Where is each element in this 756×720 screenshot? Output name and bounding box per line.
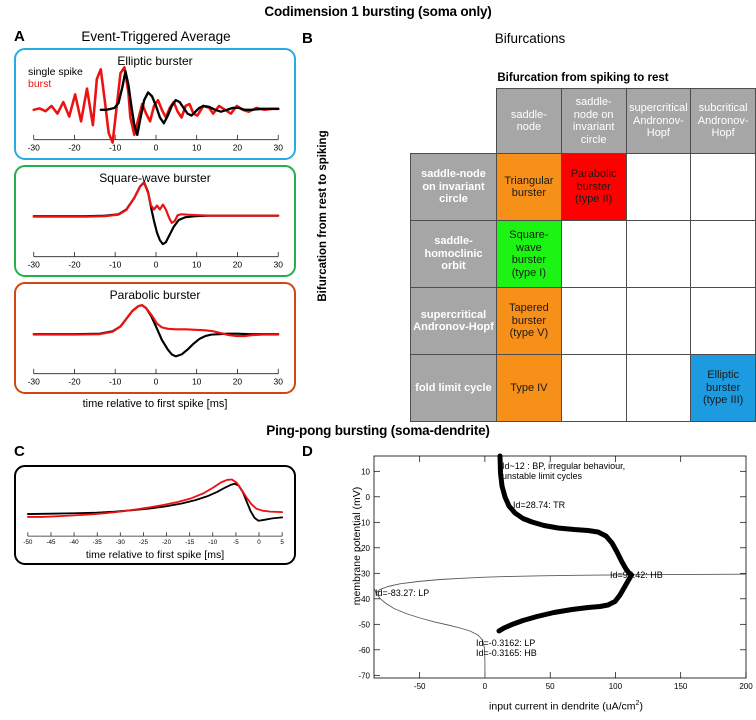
title-pingpong-bursting: Ping-pong bursting (soma-dendrite) (128, 423, 628, 438)
table-cell-empty (561, 221, 626, 288)
table-row-group-header: Bifurcation from rest to spiking (317, 121, 329, 311)
svg-text:-50: -50 (414, 682, 426, 691)
bifurcation-table-wrap: Bifurcation from spiking to rest Bifurca… (300, 60, 756, 390)
table-cell-empty (626, 288, 691, 355)
svg-text:-60: -60 (358, 646, 370, 655)
table-cell-empty (691, 154, 756, 221)
svg-text:-10: -10 (358, 518, 370, 527)
annotation-lp-03162: Id=-0.3162: LP (476, 638, 535, 649)
svg-text:10: 10 (192, 142, 202, 152)
eta-ticklabels-parabolic: -30 -20 -10 0 10 20 30 (16, 284, 294, 392)
svg-text:30: 30 (274, 142, 284, 152)
table-row-header-snic: saddle-node on invariant circle (411, 154, 497, 221)
svg-text:-20: -20 (68, 142, 81, 152)
eta-ticklabels-squarewave: -30 -20 -10 0 10 20 30 (16, 167, 294, 275)
table-cell-empty (561, 355, 626, 422)
table-row-header-supercritical-ah: supercritical Andronov-Hopf (411, 288, 497, 355)
annotation-hb-97: Id=97.42: HB (610, 570, 663, 581)
table-cell-elliptic-burster: Elliptic burster (type III) (691, 355, 756, 422)
table-col-header-snic: saddle-node on invariant circle (561, 89, 626, 154)
svg-text:-50: -50 (358, 620, 370, 629)
svg-text:-30: -30 (28, 142, 41, 152)
eta-ticklabels-elliptic: -30 -20 -10 0 10 20 30 (16, 50, 294, 158)
svg-text:100: 100 (609, 682, 623, 691)
eta-plot-pingpong: -50 -45 -40 -35 -30 -25 -20 -15 -10 -5 0… (14, 465, 296, 565)
svg-text:-30: -30 (28, 376, 41, 386)
panel-letter-d: D (302, 443, 313, 460)
svg-text:-70: -70 (358, 671, 370, 680)
svg-text:30: 30 (274, 376, 284, 386)
svg-text:0: 0 (366, 493, 371, 502)
bifurcation-diagram-svg: 10 0 -10 -20 -30 -40 -50 -60 -70 (336, 448, 756, 698)
svg-text:0: 0 (154, 376, 159, 386)
svg-text:-30: -30 (116, 539, 126, 546)
svg-text:30: 30 (274, 259, 284, 269)
svg-text:10: 10 (192, 259, 202, 269)
table-row-header-saddle-homoclinic: saddle-homoclinic orbit (411, 221, 497, 288)
svg-text:5: 5 (280, 539, 284, 546)
figure-canvas: Codimension 1 bursting (soma only) Ping-… (0, 0, 756, 720)
svg-text:0: 0 (154, 259, 159, 269)
eta-plot-squarewave: Square-wave burster -30 -20 -10 (14, 165, 296, 277)
annotation-bp-line1: Id~12 : BP, irregular behaviour, (502, 461, 625, 472)
svg-text:-40: -40 (70, 539, 80, 546)
table-row: saddle-homoclinic orbit Square-wave burs… (411, 221, 756, 288)
table-cell-triangular-burster: Triangular burster (497, 154, 562, 221)
table-row: fold limit cycle Type IV Elliptic burste… (411, 355, 756, 422)
table-row: saddle-node on invariant circle Triangul… (411, 154, 756, 221)
panel-letter-a: A (14, 28, 25, 45)
table-cell-type-iv: Type IV (497, 355, 562, 422)
svg-text:-30: -30 (28, 259, 41, 269)
svg-text:20: 20 (233, 142, 243, 152)
table-cell-empty (626, 154, 691, 221)
svg-text:20: 20 (233, 259, 243, 269)
eta-plot-elliptic: Elliptic burster single spike burst -30 (14, 48, 296, 160)
table-row: supercritical Andronov-Hopf Tapered burs… (411, 288, 756, 355)
svg-text:-15: -15 (185, 539, 195, 546)
svg-text:-10: -10 (109, 142, 122, 152)
table-cell-tapered-burster: Tapered burster (type V) (497, 288, 562, 355)
table-corner-cell (411, 89, 497, 154)
table-cell-square-wave-burster: Square-wave burster (type I) (497, 221, 562, 288)
svg-text:-45: -45 (46, 539, 56, 546)
panel-letter-b: B (302, 30, 313, 47)
svg-text:-20: -20 (68, 376, 81, 386)
table-cell-empty (626, 221, 691, 288)
svg-text:-30: -30 (358, 569, 370, 578)
panel-b-heading: Bifurcations (380, 31, 680, 46)
panel-letter-c: C (14, 443, 25, 460)
eta-plot-parabolic: Parabolic burster -30 -20 -10 0 (14, 282, 296, 394)
annotation-tr: Id=28.74: TR (513, 500, 565, 511)
svg-text:50: 50 (546, 682, 555, 691)
svg-text:-20: -20 (68, 259, 81, 269)
svg-text:-10: -10 (208, 539, 218, 546)
svg-text:-35: -35 (93, 539, 103, 546)
svg-text:-10: -10 (109, 259, 122, 269)
bifurcation-table: saddle-node saddle-node on invariant cir… (410, 88, 756, 422)
svg-text:-5: -5 (233, 539, 239, 546)
table-cell-empty (626, 355, 691, 422)
table-column-group-header: Bifurcation from spiking to rest (410, 72, 756, 84)
table-col-header-subcritical-ah: subcritical Andronov-Hopf (691, 89, 756, 154)
svg-text:-20: -20 (358, 544, 370, 553)
annotation-hb-03165: Id=-0.3165: HB (476, 648, 537, 659)
svg-text:-40: -40 (358, 595, 370, 604)
table-cell-empty (691, 221, 756, 288)
svg-text:10: 10 (192, 376, 202, 386)
table-cell-empty (691, 288, 756, 355)
svg-text:-10: -10 (109, 376, 122, 386)
table-cell-empty (561, 288, 626, 355)
svg-text:-25: -25 (139, 539, 149, 546)
table-row-header-fold-limit-cycle: fold limit cycle (411, 355, 497, 422)
panel-a-xlabel: time relative to first spike [ms] (14, 398, 296, 410)
svg-text:-20: -20 (162, 539, 172, 546)
svg-text:200: 200 (739, 682, 753, 691)
svg-text:10: 10 (361, 467, 370, 476)
svg-text:150: 150 (674, 682, 688, 691)
panel-c-xlabel: time relative to first spike [ms] (16, 549, 294, 561)
svg-text:0: 0 (257, 539, 261, 546)
svg-text:20: 20 (233, 376, 243, 386)
title-codimension-bursting: Codimension 1 bursting (soma only) (128, 4, 628, 19)
panel-d-xlabel: input current in dendrite (uA/cm2) (376, 700, 756, 713)
svg-text:0: 0 (154, 142, 159, 152)
table-cell-parabolic-burster: Parabolic burster (type II) (561, 154, 626, 221)
table-col-header-saddle-node: saddle-node (497, 89, 562, 154)
panel-a-heading: Event-Triggered Average (36, 29, 276, 44)
table-col-header-supercritical-ah: supercritical Andronov-Hopf (626, 89, 691, 154)
annotation-bp-line2: unstable limit cycles (502, 471, 582, 482)
table-header-row: saddle-node saddle-node on invariant cir… (411, 89, 756, 154)
svg-text:0: 0 (483, 682, 488, 691)
annotation-lp-83: Id=-83.27: LP (375, 588, 429, 599)
bifurcation-diagram-panel: membrane potential (mV) input current in… (336, 448, 756, 720)
svg-text:-50: -50 (23, 539, 33, 546)
